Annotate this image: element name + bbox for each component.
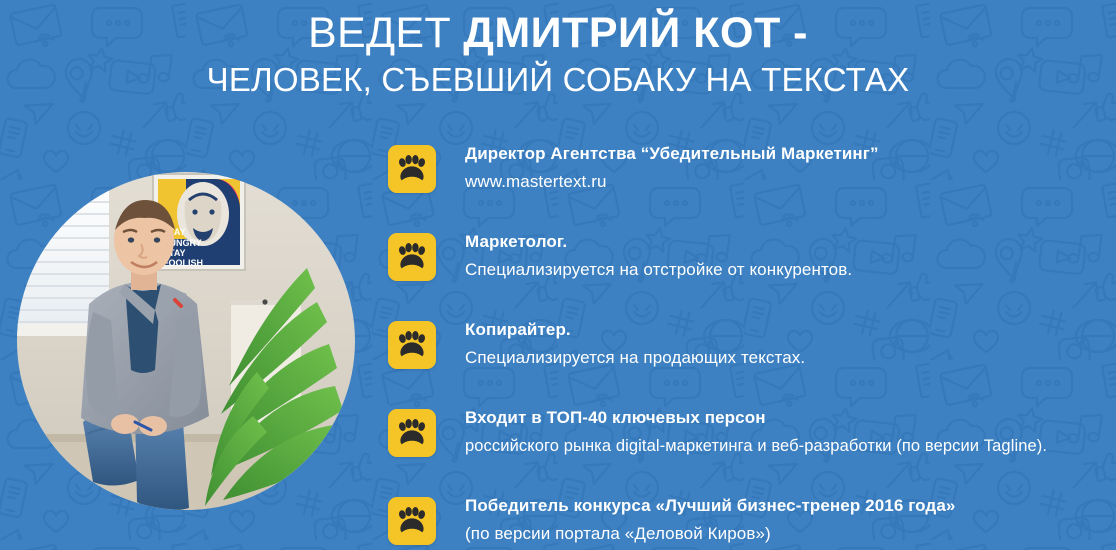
paw-icon <box>388 321 436 369</box>
list-item-text: Копирайтер. Специализируется на продающи… <box>465 318 1110 370</box>
list-item-text: Маркетолог. Специализируется на отстройк… <box>465 230 1110 282</box>
list-item: Победитель конкурса «Лучший бизнес-трене… <box>388 489 1108 550</box>
list-item-title: Входит в ТОП-40 ключевых персон <box>465 406 1110 429</box>
title-strong-text: ДМИТРИЙ КОТ - <box>463 9 808 57</box>
list-item-text: Директор Агентства “Убедительный Маркети… <box>465 142 1110 194</box>
list-item-title: Победитель конкурса «Лучший бизнес-трене… <box>465 494 1110 517</box>
list-item-subtitle: Специализируется на отстройке от конкуре… <box>465 258 1110 282</box>
list-item-subtitle: российского рынка digital-маркетинга и в… <box>465 434 1110 458</box>
page-subtitle: ЧЕЛОВЕК, СЪЕВШИЙ СОБАКУ НА ТЕКСТАХ <box>0 60 1116 100</box>
paw-icon <box>388 145 436 193</box>
title-lead-text: ВЕДЕТ <box>308 9 463 57</box>
list-item-subtitle[interactable]: www.mastertext.ru <box>465 170 1110 194</box>
page-title: ВЕДЕТ ДМИТРИЙ КОТ - <box>0 9 1116 58</box>
list-item-title: Копирайтер. <box>465 318 1110 341</box>
list-item-text: Победитель конкурса «Лучший бизнес-трене… <box>465 494 1110 546</box>
credentials-list: Директор Агентства “Убедительный Маркети… <box>388 137 1108 550</box>
portrait-illustration: STAY HUNGRY STAY FOOLISH <box>17 172 355 510</box>
list-item-title: Директор Агентства “Убедительный Маркети… <box>465 142 1110 165</box>
paw-icon <box>388 233 436 281</box>
list-item-subtitle: Специализируется на продающих текстах. <box>465 346 1110 370</box>
list-item-text: Входит в ТОП-40 ключевых персон российск… <box>465 406 1110 458</box>
list-item-title: Маркетолог. <box>465 230 1110 253</box>
list-item: Маркетолог. Специализируется на отстройк… <box>388 225 1108 313</box>
list-item: Директор Агентства “Убедительный Маркети… <box>388 137 1108 225</box>
poster-line-4: FOOLISH <box>163 258 203 268</box>
promo-banner: ВЕДЕТ ДМИТРИЙ КОТ - ЧЕЛОВЕК, СЪЕВШИЙ СОБ… <box>0 0 1116 550</box>
list-item: Копирайтер. Специализируется на продающи… <box>388 313 1108 401</box>
list-item: Входит в ТОП-40 ключевых персон российск… <box>388 401 1108 489</box>
banner-header: ВЕДЕТ ДМИТРИЙ КОТ - ЧЕЛОВЕК, СЪЕВШИЙ СОБ… <box>0 0 1116 100</box>
list-item-subtitle: (по версии портала «Деловой Киров») <box>465 522 1110 546</box>
paw-icon <box>388 409 436 457</box>
speaker-portrait: STAY HUNGRY STAY FOOLISH <box>17 172 355 510</box>
paw-icon <box>388 497 436 545</box>
